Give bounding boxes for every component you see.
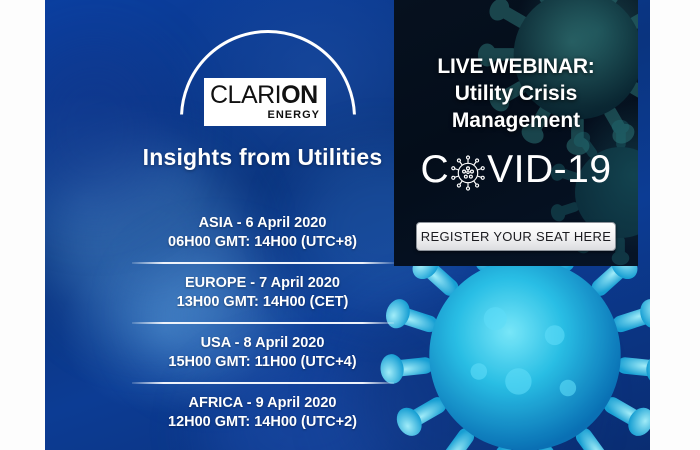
page-title: Insights from Utilities: [90, 144, 435, 171]
schedule-region-date: USA - 8 April 2020: [90, 334, 435, 353]
schedule-times: 15H00 GMT: 11H00 (UTC+4): [90, 353, 435, 372]
coronavirus-icon: [450, 155, 486, 191]
clarion-energy-logo: CLARION ENERGY: [204, 78, 326, 126]
blue-banner-background: CLARION ENERGY Insights from Utilities A…: [45, 0, 650, 450]
list-item: EUROPE - 7 April 2020 13H00 GMT: 14H00 (…: [90, 268, 435, 319]
register-button[interactable]: REGISTER YOUR SEAT HERE: [416, 222, 616, 251]
schedule-divider: [132, 322, 394, 324]
logo-wordmark: CLARION: [210, 83, 320, 108]
schedule-times: 06H00 GMT: 14H00 (UTC+8): [90, 233, 435, 252]
schedule-list: ASIA - 6 April 2020 06H00 GMT: 14H00 (UT…: [90, 208, 435, 439]
webinar-title-line1: LIVE WEBINAR:: [394, 53, 638, 80]
list-item: AFRICA - 9 April 2020 12H00 GMT: 14H00 (…: [90, 388, 435, 439]
webinar-title: LIVE WEBINAR: Utility Crisis Management: [394, 53, 638, 134]
list-item: USA - 8 April 2020 15H00 GMT: 11H00 (UTC…: [90, 328, 435, 379]
poster-canvas: CLARION ENERGY Insights from Utilities A…: [0, 0, 700, 450]
webinar-title-line3: Management: [394, 107, 638, 134]
logo-wordmark-bold: ON: [281, 81, 318, 109]
schedule-divider: [132, 382, 394, 384]
logo-subtitle: ENERGY: [210, 109, 320, 121]
covid-wordmark: C: [394, 150, 638, 190]
schedule-times: 13H00 GMT: 14H00 (CET): [90, 293, 435, 312]
list-item: ASIA - 6 April 2020 06H00 GMT: 14H00 (UT…: [90, 208, 435, 259]
logo-wordmark-light: CLARI: [210, 81, 281, 109]
webinar-title-line2: Utility Crisis: [394, 80, 638, 107]
covid-prefix: C: [420, 150, 449, 190]
schedule-divider: [132, 262, 394, 264]
schedule-region-date: AFRICA - 9 April 2020: [90, 394, 435, 413]
schedule-region-date: ASIA - 6 April 2020: [90, 214, 435, 233]
schedule-times: 12H00 GMT: 14H00 (UTC+2): [90, 413, 435, 432]
schedule-region-date: EUROPE - 7 April 2020: [90, 274, 435, 293]
webinar-panel: LIVE WEBINAR: Utility Crisis Management …: [394, 0, 638, 266]
covid-suffix: VID-19: [487, 150, 611, 190]
background-blotch: [45, 40, 175, 220]
